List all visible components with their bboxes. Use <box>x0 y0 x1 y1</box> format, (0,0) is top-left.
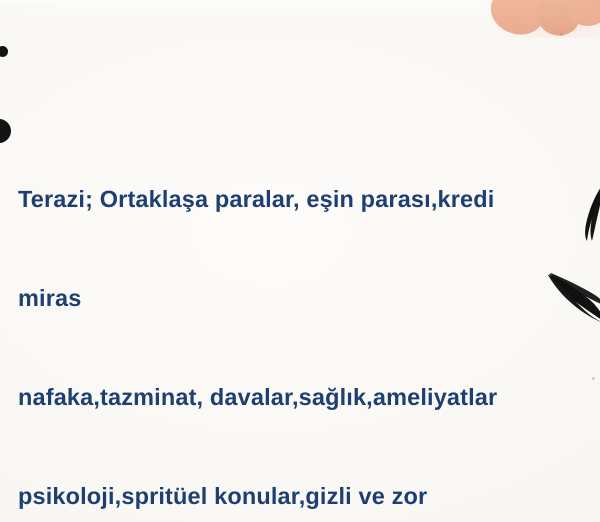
text-line: nafaka,tazminat, davalar,sağlık,ameliyat… <box>18 381 590 414</box>
text-line: psikoloji,spritüel konular,gizli ve zor <box>18 480 590 513</box>
paragraph-terazi: Terazi; Ortaklaşa paralar, eşin parası,k… <box>18 117 590 522</box>
text-block: Terazi; Ortaklaşa paralar, eşin parası,k… <box>18 18 590 522</box>
text-line: miras <box>18 282 590 315</box>
speck-lower-right <box>592 377 595 380</box>
text-graphic-canvas: Terazi; Ortaklaşa paralar, eşin parası,k… <box>0 0 600 522</box>
text-line: Terazi; Ortaklaşa paralar, eşin parası,k… <box>18 183 590 216</box>
